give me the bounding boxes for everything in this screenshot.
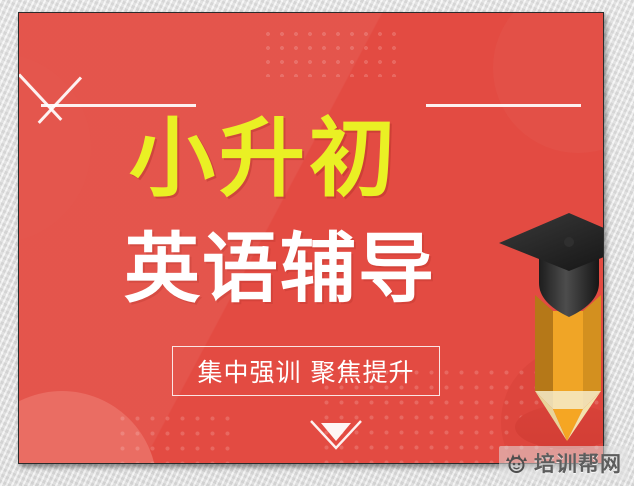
tagline-box: 集中强训 聚焦提升 (172, 346, 440, 396)
headline-primary: 小升初 (129, 116, 469, 202)
graduation-cap-pencil (491, 209, 603, 459)
tagline-text: 集中强训 聚焦提升 (198, 353, 415, 389)
graduation-cap-board (499, 213, 603, 271)
watermark: 培训帮网 (499, 446, 628, 480)
red-banner: 小升初 英语辅导 集中强训 聚焦提升 (18, 12, 604, 464)
dot-grid-pattern-top (261, 27, 401, 77)
watermark-text: 培训帮网 (534, 448, 622, 478)
chevron-down-arrow (307, 415, 365, 455)
poster-root: 小升初 英语辅导 集中强训 聚焦提升 (0, 0, 634, 486)
graduation-cap-button (564, 237, 574, 247)
banner-content: 小升初 英语辅导 集中强训 聚焦提升 (19, 13, 603, 463)
angle-bracket-right-top (426, 104, 581, 107)
sun-face-logo-icon (505, 452, 529, 474)
angle-bracket-left-top (41, 104, 196, 107)
angle-bracket-left-leg (19, 73, 62, 120)
dot-grid-pattern-bottom-left (115, 411, 235, 463)
headline-secondary: 英语辅导 (124, 231, 484, 307)
